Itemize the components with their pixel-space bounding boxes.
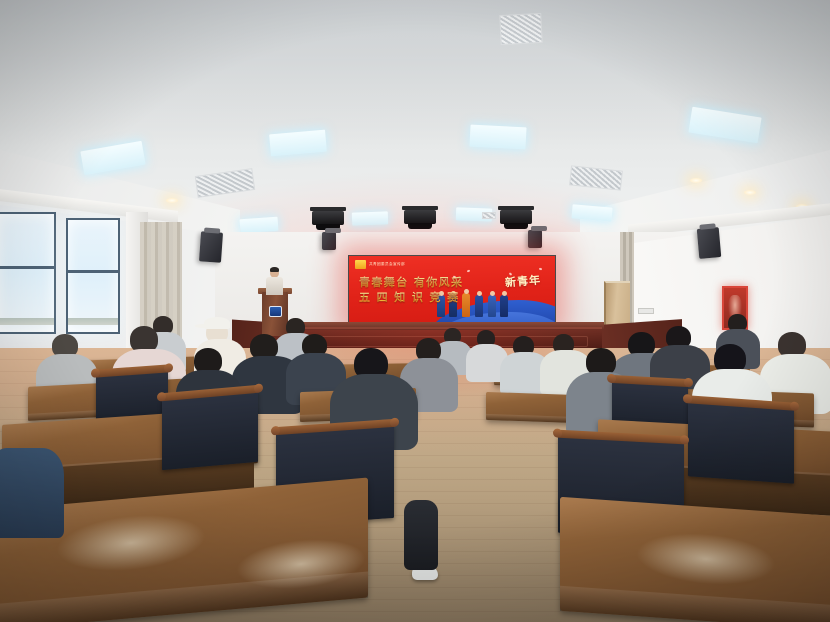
led-panel-3	[469, 125, 526, 150]
spotlight-lens	[504, 223, 528, 229]
window-view-horizon	[0, 318, 54, 325]
spotlight-lens	[408, 223, 432, 229]
attendee-white-cap	[204, 317, 230, 329]
wall-speaker-right	[697, 227, 722, 259]
air-vent-small	[482, 212, 496, 219]
spotlight-housing	[404, 210, 436, 224]
screen-title-line-2: 五 四 知 识 竞 赛	[359, 291, 463, 306]
downlight-right-2	[744, 190, 756, 195]
led-panel-6	[352, 211, 388, 225]
window-mullion	[68, 270, 118, 273]
screen-title-block: 青春舞台 有你风采 五 四 知 识 竞 赛	[359, 276, 463, 305]
presenter-torso	[266, 277, 283, 295]
wall-speaker-left	[199, 231, 223, 262]
spotlight-housing	[312, 211, 344, 225]
emblem-icon	[355, 260, 366, 269]
chair-mid-left[interactable]	[162, 390, 258, 470]
window-left-mid	[66, 218, 120, 334]
spotlight-housing	[500, 210, 532, 224]
presenter-at-lectern	[266, 268, 283, 294]
stage-speaker-left	[322, 232, 336, 250]
screen-figure-5	[488, 295, 496, 317]
screen-org-logo: 共青团委员会宣传部	[355, 260, 405, 269]
screen-script-accent: 新青年	[504, 271, 541, 290]
desk-foreground-right	[560, 497, 830, 622]
screen-org-text: 共青团委员会宣传部	[369, 262, 405, 267]
confetti-5	[539, 268, 542, 271]
confetti-2	[467, 270, 470, 273]
attendee-legs-aisle	[404, 500, 438, 570]
chair-mid-right[interactable]	[688, 400, 794, 483]
air-vent-main	[499, 13, 543, 45]
screen-figure-6	[500, 295, 508, 317]
downlight-left-1	[166, 198, 178, 203]
led-panel-5	[240, 217, 279, 234]
screen-figure-4	[475, 295, 483, 317]
window-far-left	[0, 212, 56, 334]
stage-speaker-right	[528, 230, 542, 248]
lectern-emblem-icon	[269, 306, 282, 317]
downlight-right-1	[690, 178, 702, 183]
window-mullion	[0, 266, 54, 269]
attendee-body	[0, 448, 64, 538]
room-sign	[638, 308, 654, 314]
led-stage-screen: 共青团委员会宣传部 新青年 青春舞台 有你风采 五 四 知 识 竞 赛	[348, 255, 556, 327]
conference-hall-photo: 共青团委员会宣传部 新青年 青春舞台 有你风采 五 四 知 识 竞 赛	[0, 0, 830, 622]
screen-title-line-1: 青春舞台 有你风采	[359, 276, 463, 291]
window-view-horizon	[68, 318, 118, 325]
